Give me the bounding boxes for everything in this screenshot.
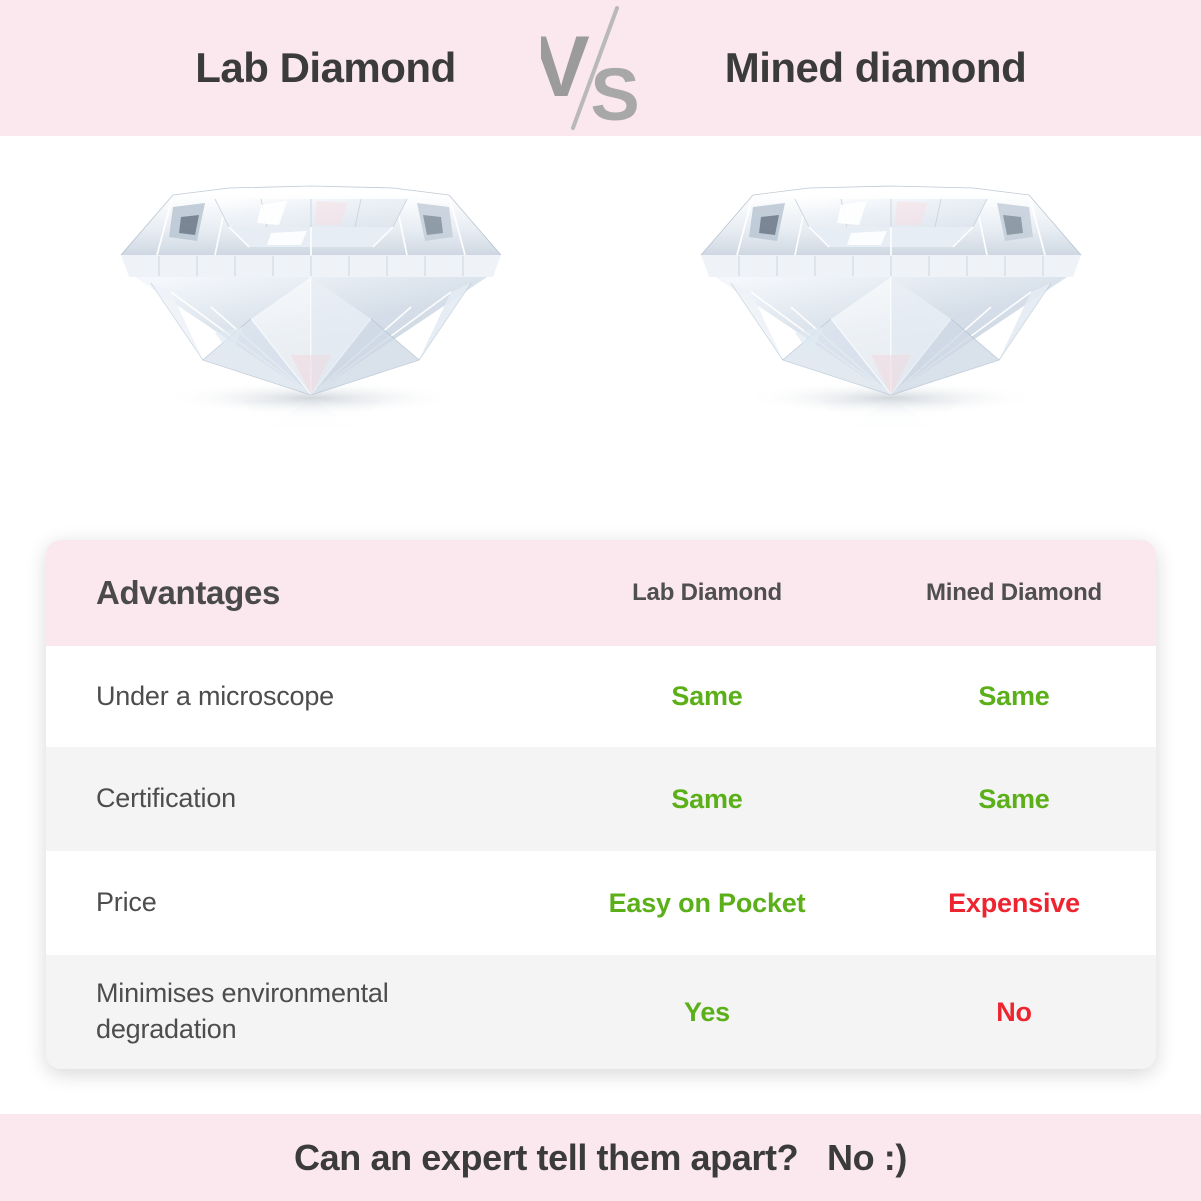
row-lab-value: Same [671,784,742,814]
header-cell-lab: Lab Diamond [542,579,872,607]
table-row: Certification Same Same [46,747,1156,851]
header-banner: Lab Diamond V S Mined diamond [0,0,1201,136]
header-label-mined: Mined Diamond [926,579,1102,606]
row-mined-value: Same [978,681,1049,711]
row-feature-cell: Price [46,885,542,921]
vs-icon: V S [541,0,661,136]
row-lab-cell: Easy on Pocket [542,888,872,919]
row-feature-label: Price [96,887,157,917]
row-mined-cell: No [872,997,1156,1028]
diamond-icon-mined [691,155,1091,445]
row-lab-cell: Same [542,681,872,712]
row-mined-value: Same [978,784,1049,814]
row-feature-cell: Certification [46,781,542,817]
header-cell-mined: Mined Diamond [872,579,1156,607]
row-feature-label: Certification [96,783,236,813]
diamond-images-row [0,136,1201,526]
diamond-icon-lab [111,155,511,445]
vs-badge: V S [541,0,661,136]
infographic-page: Lab Diamond V S Mined diamond [0,0,1201,1201]
header-title-lab: Lab Diamond [111,44,541,92]
footer-banner: Can an expert tell them apart? No :) [0,1114,1201,1201]
row-feature-label: Under a microscope [96,681,334,711]
header-cell-advantages: Advantages [46,574,542,612]
diamond-image-mined [691,150,1091,450]
row-mined-cell: Same [872,784,1156,815]
row-feature-label: Minimises environmental degradation [96,978,389,1044]
row-feature-cell: Under a microscope [46,679,542,715]
comparison-table: Advantages Lab Diamond Mined Diamond Und… [46,540,1156,1069]
header-label-advantages: Advantages [96,574,280,611]
table-header-row: Advantages Lab Diamond Mined Diamond [46,540,1156,646]
footer-text: Can an expert tell them apart? No :) [294,1137,907,1179]
row-mined-value: No [996,997,1032,1027]
row-mined-value: Expensive [948,888,1080,918]
row-mined-cell: Same [872,681,1156,712]
row-lab-value: Yes [684,997,730,1027]
diamond-image-lab [111,150,511,450]
row-lab-cell: Same [542,784,872,815]
header-title-mined: Mined diamond [661,44,1091,92]
row-lab-cell: Yes [542,997,872,1028]
row-lab-value: Easy on Pocket [609,888,806,918]
row-lab-value: Same [671,681,742,711]
table-row: Minimises environmental degradation Yes … [46,955,1156,1069]
table-row: Under a microscope Same Same [46,646,1156,747]
row-mined-cell: Expensive [872,888,1156,919]
table-row: Price Easy on Pocket Expensive [46,851,1156,955]
row-feature-cell: Minimises environmental degradation [46,976,542,1047]
header-label-lab: Lab Diamond [632,579,782,606]
